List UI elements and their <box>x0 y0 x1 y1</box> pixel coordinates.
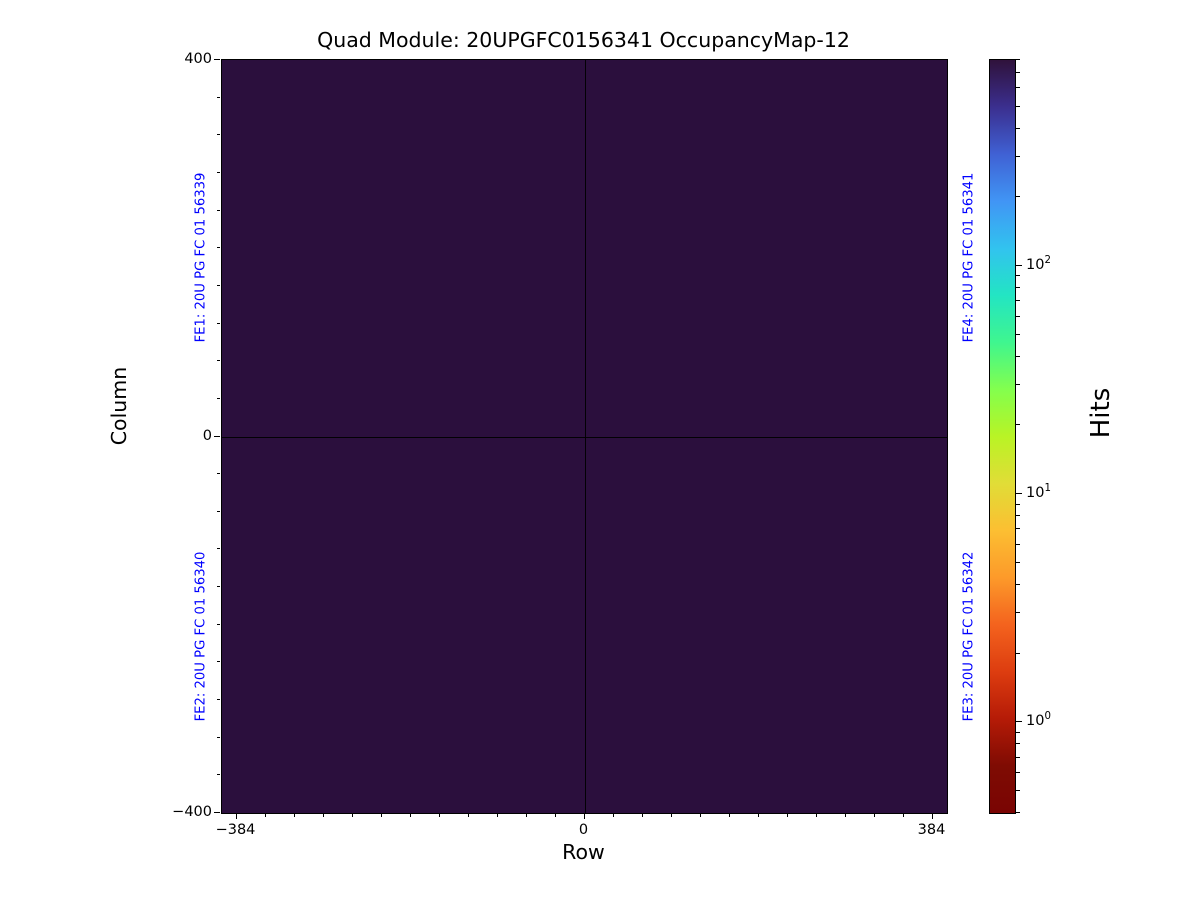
x-tick-minor <box>526 813 527 817</box>
y-axis-label: Column <box>107 336 131 476</box>
page-title: Quad Module: 20UPGFC0156341 OccupancyMap… <box>221 28 946 52</box>
y-tick-minor <box>217 97 221 98</box>
colorbar-tick-minor <box>1016 275 1020 276</box>
y-tick-minor <box>217 285 221 286</box>
y-tick-minor <box>217 774 221 775</box>
colorbar-tick-label: 100 <box>1026 713 1051 729</box>
colorbar-tick-minor <box>1016 356 1020 357</box>
x-tick-minor <box>700 813 701 817</box>
x-tick-minor <box>555 813 556 817</box>
x-tick-major <box>584 813 585 819</box>
x-tick-minor <box>439 813 440 817</box>
y-tick-minor <box>217 134 221 135</box>
colorbar-tick-minor <box>1016 196 1020 197</box>
colorbar-tick-minor <box>1016 515 1020 516</box>
colorbar-tick-minor <box>1016 772 1020 773</box>
x-tick-minor <box>642 813 643 817</box>
colorbar-tick-minor <box>1016 72 1020 73</box>
colorbar-tick-minor <box>1016 59 1020 60</box>
x-tick-minor <box>613 813 614 817</box>
x-tick-minor <box>729 813 730 817</box>
x-tick-label: −384 <box>216 822 256 838</box>
colorbar-tick-minor <box>1016 653 1020 654</box>
x-axis-label: Row <box>221 840 946 864</box>
x-tick-minor <box>671 813 672 817</box>
y-tick-minor <box>217 624 221 625</box>
annotation-fe2: FE2: 20U PG FC 01 56340 <box>194 522 209 752</box>
y-tick-minor <box>217 661 221 662</box>
y-tick-minor <box>217 172 221 173</box>
y-tick-label: 400 <box>150 51 212 67</box>
colorbar-tick-minor <box>1016 504 1020 505</box>
colorbar-tick-minor <box>1016 743 1020 744</box>
annotation-fe1: FE1: 20U PG FC 01 56339 <box>194 143 209 373</box>
colorbar-tick-minor <box>1016 584 1020 585</box>
x-tick-minor <box>410 813 411 817</box>
x-tick-minor <box>816 813 817 817</box>
colorbar-tick-major <box>1016 493 1022 494</box>
colorbar[interactable] <box>989 59 1016 814</box>
colorbar-tick-minor <box>1016 384 1020 385</box>
x-tick-minor <box>265 813 266 817</box>
colorbar-tick-minor <box>1016 528 1020 529</box>
colorbar-tick-minor <box>1016 544 1020 545</box>
y-tick-minor <box>217 323 221 324</box>
x-tick-minor <box>294 813 295 817</box>
x-tick-label: 0 <box>579 822 588 838</box>
annotation-fe4: FE4: 20U PG FC 01 56341 <box>962 143 977 373</box>
colorbar-tick-label: 101 <box>1026 485 1051 501</box>
heatmap-axes[interactable] <box>221 59 948 814</box>
y-tick-major <box>214 812 220 813</box>
x-tick-major <box>236 813 237 819</box>
colorbar-tick-minor <box>1016 424 1020 425</box>
y-tick-minor <box>217 586 221 587</box>
quadrant-divider-horizontal <box>222 437 947 438</box>
colorbar-tick-minor <box>1016 562 1020 563</box>
colorbar-tick-major <box>1016 265 1022 266</box>
y-tick-minor <box>217 210 221 211</box>
colorbar-label: Hits <box>1086 333 1116 493</box>
y-tick-minor <box>217 548 221 549</box>
colorbar-tick-minor <box>1016 300 1020 301</box>
y-tick-minor <box>217 473 221 474</box>
y-tick-minor <box>217 699 221 700</box>
x-tick-minor <box>845 813 846 817</box>
colorbar-tick-minor <box>1016 612 1020 613</box>
x-tick-minor <box>381 813 382 817</box>
colorbar-tick-minor <box>1016 732 1020 733</box>
x-tick-major <box>932 813 933 819</box>
x-tick-minor <box>787 813 788 817</box>
y-tick-minor <box>217 360 221 361</box>
x-tick-minor <box>497 813 498 817</box>
colorbar-tick-minor <box>1016 812 1020 813</box>
x-tick-label: 384 <box>918 822 946 838</box>
y-tick-minor <box>217 511 221 512</box>
y-tick-label: −400 <box>150 804 212 820</box>
y-tick-major <box>214 59 220 60</box>
colorbar-tick-minor <box>1016 757 1020 758</box>
colorbar-tick-minor <box>1016 156 1020 157</box>
y-tick-major <box>214 436 220 437</box>
x-tick-minor <box>903 813 904 817</box>
x-tick-minor <box>468 813 469 817</box>
x-tick-minor <box>323 813 324 817</box>
annotation-fe3: FE3: 20U PG FC 01 56342 <box>962 522 977 752</box>
colorbar-tick-major <box>1016 721 1022 722</box>
colorbar-tick-minor <box>1016 316 1020 317</box>
x-tick-minor <box>758 813 759 817</box>
colorbar-tick-minor <box>1016 287 1020 288</box>
colorbar-tick-minor <box>1016 87 1020 88</box>
x-tick-minor <box>352 813 353 817</box>
y-tick-label: 0 <box>150 428 212 444</box>
y-tick-minor <box>217 398 221 399</box>
colorbar-tick-label: 102 <box>1026 257 1051 273</box>
y-tick-minor <box>217 737 221 738</box>
colorbar-tick-minor <box>1016 334 1020 335</box>
colorbar-tick-minor <box>1016 106 1020 107</box>
figure-canvas: Quad Module: 20UPGFC0156341 OccupancyMap… <box>0 0 1200 900</box>
colorbar-gradient <box>990 60 1015 813</box>
colorbar-tick-minor <box>1016 790 1020 791</box>
y-tick-minor <box>217 247 221 248</box>
colorbar-tick-minor <box>1016 128 1020 129</box>
x-tick-minor <box>874 813 875 817</box>
